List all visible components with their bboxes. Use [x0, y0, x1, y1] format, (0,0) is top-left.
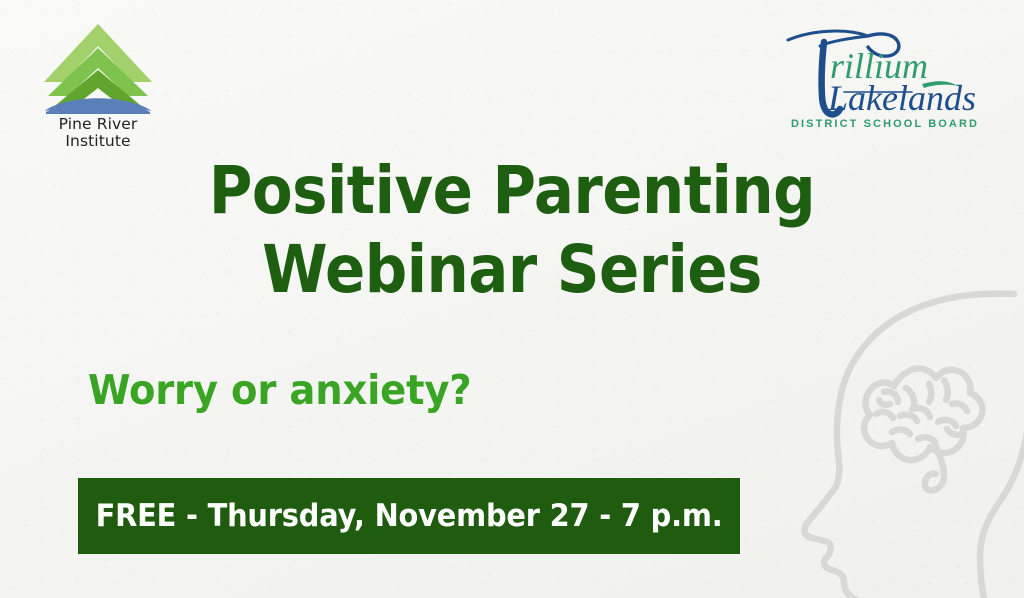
- poster-canvas: Pine River Institute rillium Lakelands D…: [0, 0, 1024, 598]
- pine-river-line1: Pine River: [59, 115, 138, 133]
- logo-trillium-lakelands: rillium Lakelands DISTRICT SCHOOL BOARD: [772, 22, 1002, 142]
- pine-river-line2: Institute: [65, 132, 130, 150]
- district-school-board-label: DISTRICT SCHOOL BOARD: [772, 118, 998, 130]
- topic-subtitle: Worry or anxiety?: [88, 370, 471, 411]
- event-details-text: FREE - Thursday, November 27 - 7 p.m.: [96, 501, 723, 532]
- pine-tree-icon: [28, 22, 168, 114]
- page-title: Positive Parenting Webinar Series: [0, 152, 1024, 309]
- page-title-line-2: Webinar Series: [51, 231, 973, 310]
- pine-river-wordmark: Pine River Institute: [28, 116, 168, 151]
- page-title-line-1: Positive Parenting: [51, 152, 973, 231]
- head-brain-illustration: [766, 276, 1024, 598]
- logo-pine-river-institute: Pine River Institute: [28, 22, 168, 162]
- event-details-banner: FREE - Thursday, November 27 - 7 p.m.: [78, 478, 740, 554]
- trillium-lakelands-mark: rillium Lakelands: [772, 22, 1002, 122]
